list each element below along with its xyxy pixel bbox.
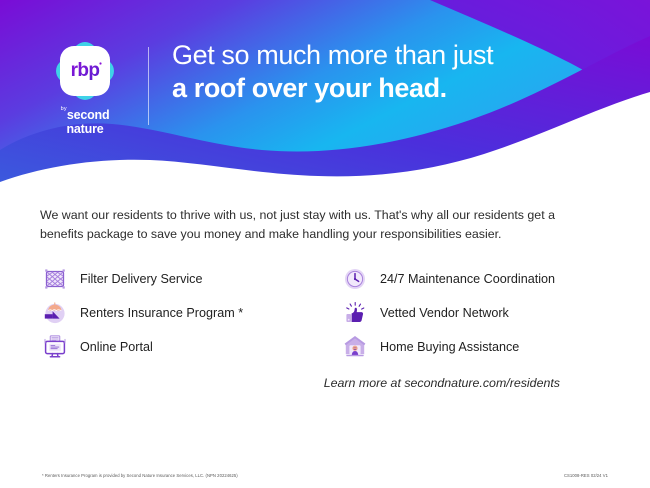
thumbs-up-icon <box>340 298 370 328</box>
benefits-list: Filter Delivery Service 24/7 Maintenance… <box>40 262 612 364</box>
benefit-item-renters-insurance-program[interactable]: Renters Insurance Program * <box>40 296 340 330</box>
hero-headline: Get so much more than just a roof over y… <box>172 40 493 105</box>
benefit-item-filter-delivery-service[interactable]: Filter Delivery Service <box>40 262 340 296</box>
benefit-item-maintenance-coordination[interactable]: 24/7 Maintenance Coordination <box>340 262 612 296</box>
footer-doc-code: CS1008-RES 02/24 V1 <box>564 473 608 478</box>
logo-divider <box>148 47 149 125</box>
logo-brand-line2: nature <box>61 123 110 136</box>
house-person-icon <box>340 332 370 362</box>
benefit-item-home-buying-assistance[interactable]: Home Buying Assistance <box>340 330 612 364</box>
page-footer: * Renters Insurance Program is provided … <box>0 473 650 478</box>
hero-banner: rbp bysecond nature Get so much more tha… <box>0 0 650 182</box>
filter-icon <box>40 264 70 294</box>
benefit-label: 24/7 Maintenance Coordination <box>380 272 555 286</box>
footer-disclaimer: * Renters Insurance Program is provided … <box>42 473 238 478</box>
headline-line-2: a roof over your head. <box>172 73 493 104</box>
benefit-label: Vetted Vendor Network <box>380 306 509 320</box>
benefit-label: Filter Delivery Service <box>80 272 202 286</box>
clock-icon <box>340 264 370 294</box>
umbrella-house-icon <box>40 298 70 328</box>
benefit-item-online-portal[interactable]: Online Portal <box>40 330 340 364</box>
intro-paragraph: We want our residents to thrive with us,… <box>40 206 600 244</box>
learn-more-text: Learn more at secondnature.com/residents <box>40 376 612 390</box>
logo-brand-line1: second <box>67 108 110 122</box>
benefit-label: Renters Insurance Program * <box>80 306 243 320</box>
rbp-wordmark: bysecond nature <box>61 107 110 136</box>
headline-line-1: Get so much more than just <box>172 40 493 71</box>
benefit-label: Home Buying Assistance <box>380 340 519 354</box>
benefit-label: Online Portal <box>80 340 153 354</box>
rbp-logo: rbp bysecond nature <box>30 40 140 136</box>
svg-text:rbp: rbp <box>71 60 100 81</box>
monitor-icon <box>40 332 70 362</box>
main-content: We want our residents to thrive with us,… <box>0 182 650 390</box>
benefit-item-vetted-vendor-network[interactable]: Vetted Vendor Network <box>340 296 612 330</box>
rbp-badge-icon: rbp <box>54 40 116 102</box>
